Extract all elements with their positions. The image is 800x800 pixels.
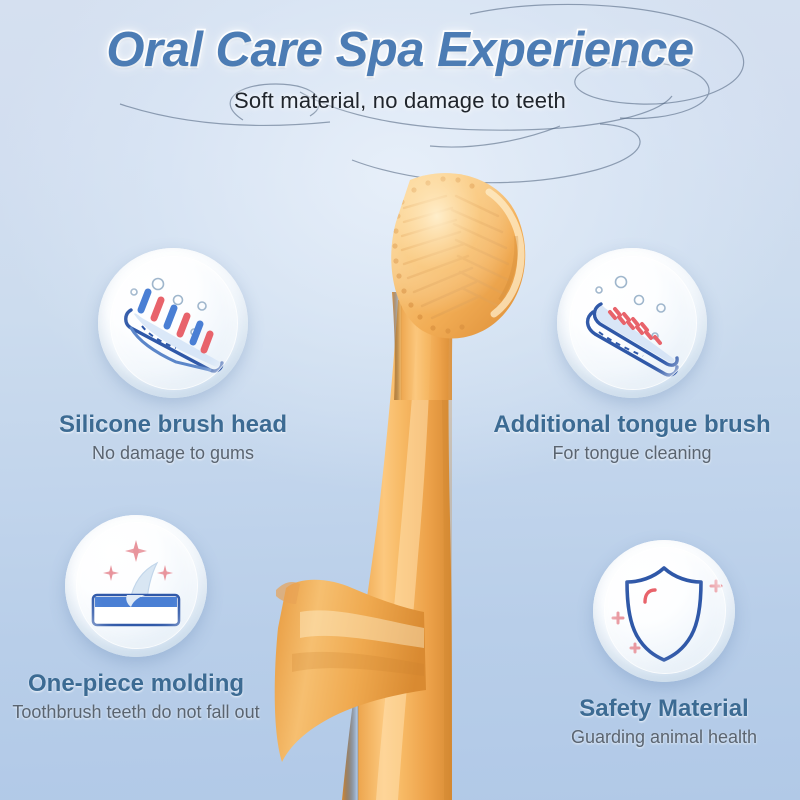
feature-icon-bubble bbox=[65, 515, 207, 657]
feature-one-piece-molding: One-piece molding Toothbrush teeth do no… bbox=[0, 515, 272, 723]
feature-icon-bubble bbox=[593, 540, 735, 682]
feature-text: Safety Material Guarding animal health bbox=[528, 695, 800, 748]
feature-title: Safety Material bbox=[528, 695, 800, 723]
shield-icon bbox=[593, 540, 735, 682]
feature-title: Silicone brush head bbox=[8, 411, 338, 439]
feature-text: Silicone brush head No damage to gums bbox=[8, 411, 338, 464]
feature-silicone-brush-head: Silicone brush head No damage to gums bbox=[8, 248, 338, 464]
feature-subtitle: Toothbrush teeth do not fall out bbox=[0, 702, 272, 723]
page-subtitle: Soft material, no damage to teeth bbox=[0, 88, 800, 114]
feature-subtitle: No damage to gums bbox=[8, 443, 338, 464]
poster-header: Oral Care Spa Experience Soft material, … bbox=[0, 26, 800, 114]
feature-additional-tongue-brush: Additional tongue brush For tongue clean… bbox=[462, 248, 800, 464]
feature-subtitle: For tongue cleaning bbox=[462, 443, 800, 464]
feature-safety-material: Safety Material Guarding animal health bbox=[528, 540, 800, 748]
feature-icon-bubble bbox=[98, 248, 248, 398]
feature-icon-bubble bbox=[557, 248, 707, 398]
page-title: Oral Care Spa Experience bbox=[0, 26, 800, 75]
feature-subtitle: Guarding animal health bbox=[528, 727, 800, 748]
product-infographic-poster: Oral Care Spa Experience Soft material, … bbox=[0, 0, 800, 800]
tongue-brush-icon bbox=[557, 248, 707, 398]
toothbrush-bristles-icon bbox=[98, 248, 248, 398]
one-piece-bristle-root-icon bbox=[65, 515, 207, 657]
feature-text: One-piece molding Toothbrush teeth do no… bbox=[0, 670, 272, 723]
feature-text: Additional tongue brush For tongue clean… bbox=[462, 411, 800, 464]
feature-title: One-piece molding bbox=[0, 670, 272, 698]
feature-title: Additional tongue brush bbox=[462, 411, 800, 439]
